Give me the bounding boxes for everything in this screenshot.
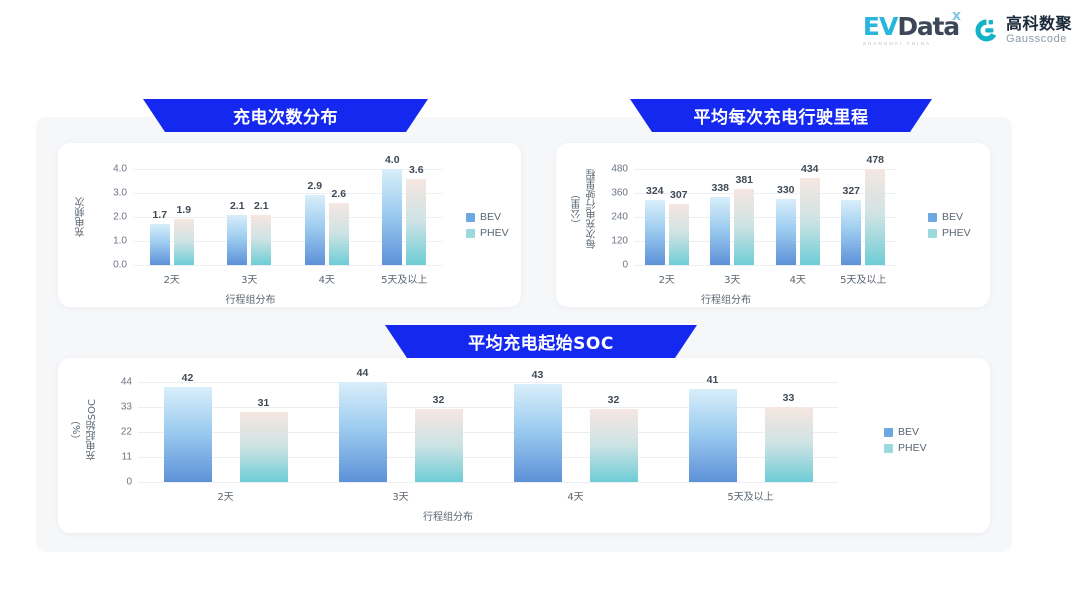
chart-charging-frequency: 充电频次4.03.02.01.00.01.71.92.12.12.92.64.0… bbox=[58, 143, 521, 307]
chart-title-2: 平均每次充电行驶里程 bbox=[694, 103, 869, 128]
legend-label-bev: BEV bbox=[480, 211, 501, 223]
bar-bev[interactable]: 2.9 bbox=[305, 195, 325, 265]
bar-bev[interactable]: 1.7 bbox=[150, 224, 170, 265]
bar-bev[interactable]: 43 bbox=[514, 384, 562, 482]
bar-phev[interactable]: 2.6 bbox=[329, 203, 349, 265]
x-axis-tick: 2天 bbox=[634, 271, 700, 286]
bar-bev[interactable]: 324 bbox=[645, 200, 665, 265]
bar-phev[interactable]: 381 bbox=[734, 189, 754, 265]
gausscode-logo: 高科数聚 Gausscode bbox=[973, 16, 1072, 45]
bar-phev[interactable]: 32 bbox=[415, 409, 463, 482]
bar-group: 4.03.6 bbox=[366, 169, 444, 265]
legend-label-phev: PHEV bbox=[480, 227, 509, 239]
bar-value-label: 307 bbox=[670, 189, 688, 201]
bar-bev[interactable]: 42 bbox=[164, 387, 212, 482]
plot-area: 4.03.02.01.00.01.71.92.12.12.92.64.03.6 bbox=[133, 169, 443, 265]
bar-phev[interactable]: 434 bbox=[800, 178, 820, 265]
x-axis-tick: 4天 bbox=[765, 271, 831, 286]
x-axis-tick: 2天 bbox=[133, 271, 211, 286]
chart-title-banner-3: 平均充电起始SOC bbox=[385, 325, 697, 358]
bar-group: 4133 bbox=[663, 382, 838, 482]
gausscode-text: 高科数聚 Gausscode bbox=[1006, 16, 1072, 45]
bar-value-label: 3.6 bbox=[409, 164, 424, 176]
x-axis-ticks: 2天3天4天5天及以上 bbox=[133, 271, 443, 286]
bar-value-label: 2.1 bbox=[254, 200, 269, 212]
y-axis-tick: 0 bbox=[622, 260, 628, 271]
bar-group: 338381 bbox=[700, 169, 766, 265]
bar-bev[interactable]: 41 bbox=[689, 389, 737, 482]
x-axis-label: 行程组分布 bbox=[58, 291, 443, 306]
legend-item-phev[interactable]: PHEV bbox=[466, 227, 509, 239]
legend-item-bev[interactable]: BEV bbox=[466, 211, 509, 223]
bar-phev[interactable]: 478 bbox=[865, 169, 885, 265]
bar-bev[interactable]: 327 bbox=[841, 200, 861, 265]
y-axis-tick: 120 bbox=[611, 236, 628, 247]
legend-item-bev[interactable]: BEV bbox=[928, 211, 971, 223]
bar-value-label: 4.0 bbox=[385, 154, 400, 166]
evdata-logo: EV Data x SHANGHAI CHINA bbox=[863, 14, 959, 46]
y-axis-label-line: 每次充电行驶里程 bbox=[585, 169, 600, 249]
y-axis-label-line: 充电频次 bbox=[74, 197, 89, 237]
bar-value-label: 31 bbox=[258, 397, 270, 409]
legend-label-bev: BEV bbox=[898, 426, 919, 438]
y-axis-tick: 0.0 bbox=[113, 260, 127, 271]
bar-value-label: 44 bbox=[357, 367, 369, 379]
bar-group: 330434 bbox=[765, 169, 831, 265]
bar-bev[interactable]: 338 bbox=[710, 197, 730, 265]
y-axis-tick: 1.0 bbox=[113, 236, 127, 247]
y-axis-tick: 360 bbox=[611, 188, 628, 199]
chart-title-banner-2: 平均每次充电行驶里程 bbox=[630, 99, 932, 132]
y-axis-label-line: （%） bbox=[70, 415, 85, 445]
chart-legend: BEVPHEV bbox=[466, 211, 509, 239]
chart-distance-per-charge: 每次充电行驶里程（公里）4803602401200324307338381330… bbox=[556, 143, 990, 307]
bar-value-label: 32 bbox=[608, 394, 620, 406]
bar-bev[interactable]: 330 bbox=[776, 199, 796, 265]
bar-phev[interactable]: 32 bbox=[590, 409, 638, 482]
gridline bbox=[138, 482, 838, 483]
x-axis-tick: 5天及以上 bbox=[366, 271, 444, 286]
x-axis-tick: 3天 bbox=[700, 271, 766, 286]
bar-value-label: 2.9 bbox=[307, 180, 322, 192]
bar-group: 2.92.6 bbox=[288, 169, 366, 265]
legend-item-bev[interactable]: BEV bbox=[884, 426, 927, 438]
y-axis-tick: 3.0 bbox=[113, 188, 127, 199]
bar-value-label: 330 bbox=[777, 184, 795, 196]
legend-label-phev: PHEV bbox=[898, 442, 927, 454]
bar-value-label: 1.9 bbox=[176, 204, 191, 216]
bar-bev[interactable]: 2.1 bbox=[227, 215, 247, 265]
evdata-data-text: Data bbox=[897, 14, 959, 39]
x-axis-ticks: 2天3天4天5天及以上 bbox=[634, 271, 896, 286]
legend-item-phev[interactable]: PHEV bbox=[928, 227, 971, 239]
y-axis-tick: 44 bbox=[121, 377, 132, 388]
x-axis-tick: 2天 bbox=[138, 488, 313, 503]
bar-value-label: 327 bbox=[842, 185, 860, 197]
legend-swatch-phev bbox=[884, 444, 893, 453]
logo-group: EV Data x SHANGHAI CHINA 高科数聚 Gausscode bbox=[863, 14, 1072, 46]
legend-label-bev: BEV bbox=[942, 211, 963, 223]
legend-item-phev[interactable]: PHEV bbox=[884, 442, 927, 454]
legend-swatch-phev bbox=[928, 229, 937, 238]
bar-phev[interactable]: 1.9 bbox=[174, 219, 194, 265]
bar-group: 1.71.9 bbox=[133, 169, 211, 265]
gausscode-mark-icon bbox=[973, 17, 1000, 44]
chart-legend: BEVPHEV bbox=[884, 426, 927, 454]
x-axis-tick: 4天 bbox=[288, 271, 366, 286]
y-axis-tick: 4.0 bbox=[113, 164, 127, 175]
legend-label-phev: PHEV bbox=[942, 227, 971, 239]
y-axis-label: 充电起始SOC（%） bbox=[70, 380, 100, 480]
bar-value-label: 2.6 bbox=[331, 188, 346, 200]
bar-value-label: 2.1 bbox=[230, 200, 245, 212]
bar-phev[interactable]: 2.1 bbox=[251, 215, 271, 265]
bar-phev[interactable]: 3.6 bbox=[406, 179, 426, 265]
chart-title-1: 充电次数分布 bbox=[233, 103, 338, 128]
x-axis-ticks: 2天3天4天5天及以上 bbox=[138, 488, 838, 503]
gridline bbox=[133, 265, 443, 266]
bar-bev[interactable]: 4.0 bbox=[382, 169, 402, 265]
bar-value-label: 381 bbox=[735, 174, 753, 186]
bar-group: 2.12.1 bbox=[211, 169, 289, 265]
bar-group: 4332 bbox=[488, 382, 663, 482]
evdata-wordmark: EV Data x bbox=[863, 14, 959, 39]
bar-value-label: 338 bbox=[711, 182, 729, 194]
bar-bev[interactable]: 44 bbox=[339, 382, 387, 482]
plot-area: 4433221104231443243324133 bbox=[138, 382, 838, 482]
y-axis-label-line: 充电起始SOC bbox=[85, 399, 100, 460]
evdata-x-icon: x bbox=[952, 8, 961, 24]
x-axis-tick: 3天 bbox=[313, 488, 488, 503]
x-axis-label: 行程组分布 bbox=[58, 508, 838, 523]
legend-swatch-bev bbox=[466, 213, 475, 222]
bar-groups: 324307338381330434327478 bbox=[634, 169, 896, 265]
evdata-subtitle: SHANGHAI CHINA bbox=[863, 41, 931, 46]
y-axis-tick: 22 bbox=[121, 427, 132, 438]
legend-swatch-bev bbox=[928, 213, 937, 222]
bar-group: 4231 bbox=[138, 382, 313, 482]
bar-group: 327478 bbox=[831, 169, 897, 265]
bar-value-label: 324 bbox=[646, 185, 664, 197]
bar-groups: 4231443243324133 bbox=[138, 382, 838, 482]
x-axis-tick: 3天 bbox=[211, 271, 289, 286]
x-axis-tick: 5天及以上 bbox=[663, 488, 838, 503]
chart-legend: BEVPHEV bbox=[928, 211, 971, 239]
legend-swatch-bev bbox=[884, 428, 893, 437]
gausscode-cn-name: 高科数聚 bbox=[1006, 16, 1072, 32]
y-axis-tick: 11 bbox=[122, 452, 132, 463]
bar-phev[interactable]: 307 bbox=[669, 204, 689, 265]
y-axis-tick: 0 bbox=[126, 477, 132, 488]
chart-start-soc: 充电起始SOC（%）44332211042314432433241332天3天4… bbox=[58, 358, 990, 533]
bar-phev[interactable]: 33 bbox=[765, 407, 813, 482]
y-axis-tick: 240 bbox=[611, 212, 628, 223]
x-axis-tick: 4天 bbox=[488, 488, 663, 503]
y-axis-tick: 2.0 bbox=[113, 212, 127, 223]
plot-area: 4803602401200324307338381330434327478 bbox=[634, 169, 896, 265]
bar-group: 4432 bbox=[313, 382, 488, 482]
gausscode-en-name: Gausscode bbox=[1006, 34, 1072, 45]
bar-group: 324307 bbox=[634, 169, 700, 265]
page-header: EV Data x SHANGHAI CHINA 高科数聚 Gausscode bbox=[0, 0, 1080, 66]
bar-value-label: 1.7 bbox=[152, 209, 167, 221]
bar-value-label: 42 bbox=[182, 372, 194, 384]
x-axis-label: 行程组分布 bbox=[556, 291, 896, 306]
x-axis-tick: 5天及以上 bbox=[831, 271, 897, 286]
y-axis-label-line: （公里） bbox=[570, 189, 585, 229]
y-axis-label: 每次充电行驶里程（公里） bbox=[570, 161, 600, 257]
y-axis-tick: 33 bbox=[121, 402, 132, 413]
bar-value-label: 33 bbox=[783, 392, 795, 404]
bar-groups: 1.71.92.12.12.92.64.03.6 bbox=[133, 169, 443, 265]
y-axis-label: 充电频次 bbox=[74, 169, 89, 265]
gridline bbox=[634, 265, 896, 266]
bar-value-label: 41 bbox=[707, 374, 719, 386]
bar-value-label: 434 bbox=[801, 163, 819, 175]
bar-value-label: 32 bbox=[433, 394, 445, 406]
legend-swatch-phev bbox=[466, 229, 475, 238]
y-axis-tick: 480 bbox=[611, 164, 628, 175]
evdata-ev-text: EV bbox=[863, 14, 897, 39]
bar-value-label: 478 bbox=[866, 154, 884, 166]
chart-title-3: 平均充电起始SOC bbox=[468, 329, 614, 354]
bar-phev[interactable]: 31 bbox=[240, 412, 288, 482]
bar-value-label: 43 bbox=[532, 369, 544, 381]
chart-title-banner-1: 充电次数分布 bbox=[143, 99, 428, 132]
